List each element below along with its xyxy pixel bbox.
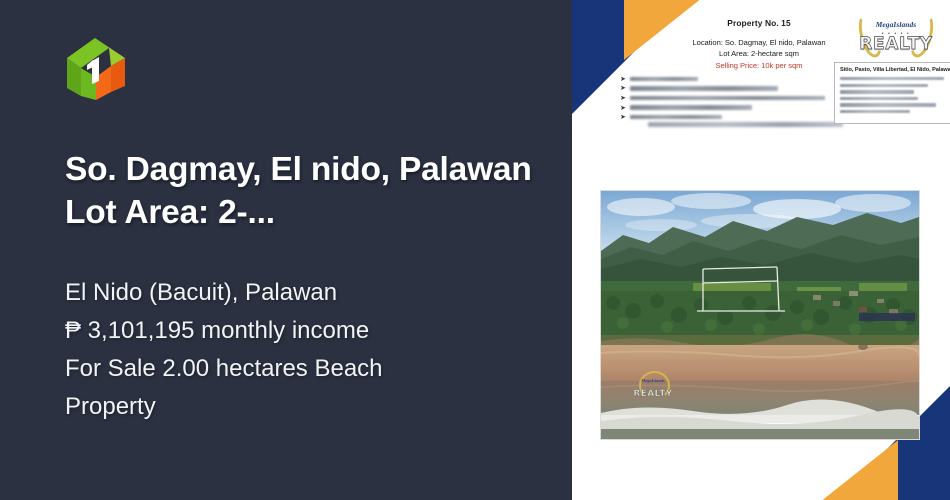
realty-wordmark: REALTY xyxy=(850,34,942,54)
info-box-blurred-row xyxy=(840,103,936,106)
bullet-arrow-icon: ➤ xyxy=(620,94,630,102)
info-box-blurred-rows xyxy=(840,77,948,113)
info-box-title: Sitio, Pasto, Villa Libertad, El Nido, P… xyxy=(840,67,948,73)
listing-description-line2: Property xyxy=(65,388,545,426)
property-listing-card: So. Dagmay, El nido, Palawan Lot Area: 2… xyxy=(0,0,950,500)
info-box-blurred-row xyxy=(840,97,918,100)
bullet-arrow-icon: ➤ xyxy=(620,104,630,112)
corner-decoration-bottom-orange xyxy=(820,440,898,500)
listing-info-panel: So. Dagmay, El nido, Palawan Lot Area: 2… xyxy=(0,0,572,500)
info-box-blurred-row xyxy=(840,77,944,80)
document-footer-blurred-text xyxy=(648,122,843,127)
document-lot-area-line: Lot Area: 2-hectare sqm xyxy=(644,48,874,59)
listing-details: El Nido (Bacuit), Palawan ₱ 3,101,195 mo… xyxy=(65,274,545,426)
house-logo-icon[interactable] xyxy=(65,36,127,102)
property-info-box: Sitio, Pasto, Villa Libertad, El Nido, P… xyxy=(834,62,950,124)
bullet-arrow-icon: ➤ xyxy=(620,113,630,121)
realty-brand-name: MegaIslands xyxy=(850,20,942,29)
megaislands-realty-logo: MegaIslands • • • • • REALTY xyxy=(850,4,942,58)
document-bullet-item: ➤ xyxy=(620,112,855,122)
listing-description-line1: For Sale 2.00 hectares Beach xyxy=(65,350,545,388)
document-bullet-list: ➤➤➤➤➤ xyxy=(620,74,855,122)
bullet-blurred-text xyxy=(630,115,722,120)
document-bullet-item: ➤ xyxy=(620,74,855,84)
bullet-arrow-icon: ➤ xyxy=(620,84,630,92)
info-box-blurred-row xyxy=(840,84,928,87)
property-document-panel: Property No. 15 Location: So. Dagmay, El… xyxy=(572,0,950,500)
document-bullet-item: ➤ xyxy=(620,84,855,94)
listing-price: ₱ 3,101,195 monthly income xyxy=(65,312,545,350)
listing-location: El Nido (Bacuit), Palawan xyxy=(65,274,545,312)
info-box-blurred-row xyxy=(840,90,914,93)
bullet-blurred-text xyxy=(630,77,698,82)
document-property-number: Property No. 15 xyxy=(644,18,874,28)
bullet-arrow-icon: ➤ xyxy=(620,75,630,83)
bullet-blurred-text xyxy=(630,96,825,101)
document-location-line: Location: So. Dagmay, El nido, Palawan xyxy=(644,37,874,48)
document-bullet-item: ➤ xyxy=(620,93,855,103)
info-box-blurred-row xyxy=(840,110,910,113)
aerial-beach-photo[interactable]: MegaIslands REALTY xyxy=(600,190,920,440)
bullet-blurred-text xyxy=(630,86,778,91)
page-title: So. Dagmay, El nido, Palawan Lot Area: 2… xyxy=(65,148,535,234)
document-bullet-item: ➤ xyxy=(620,103,855,113)
bullet-blurred-text xyxy=(630,105,752,110)
